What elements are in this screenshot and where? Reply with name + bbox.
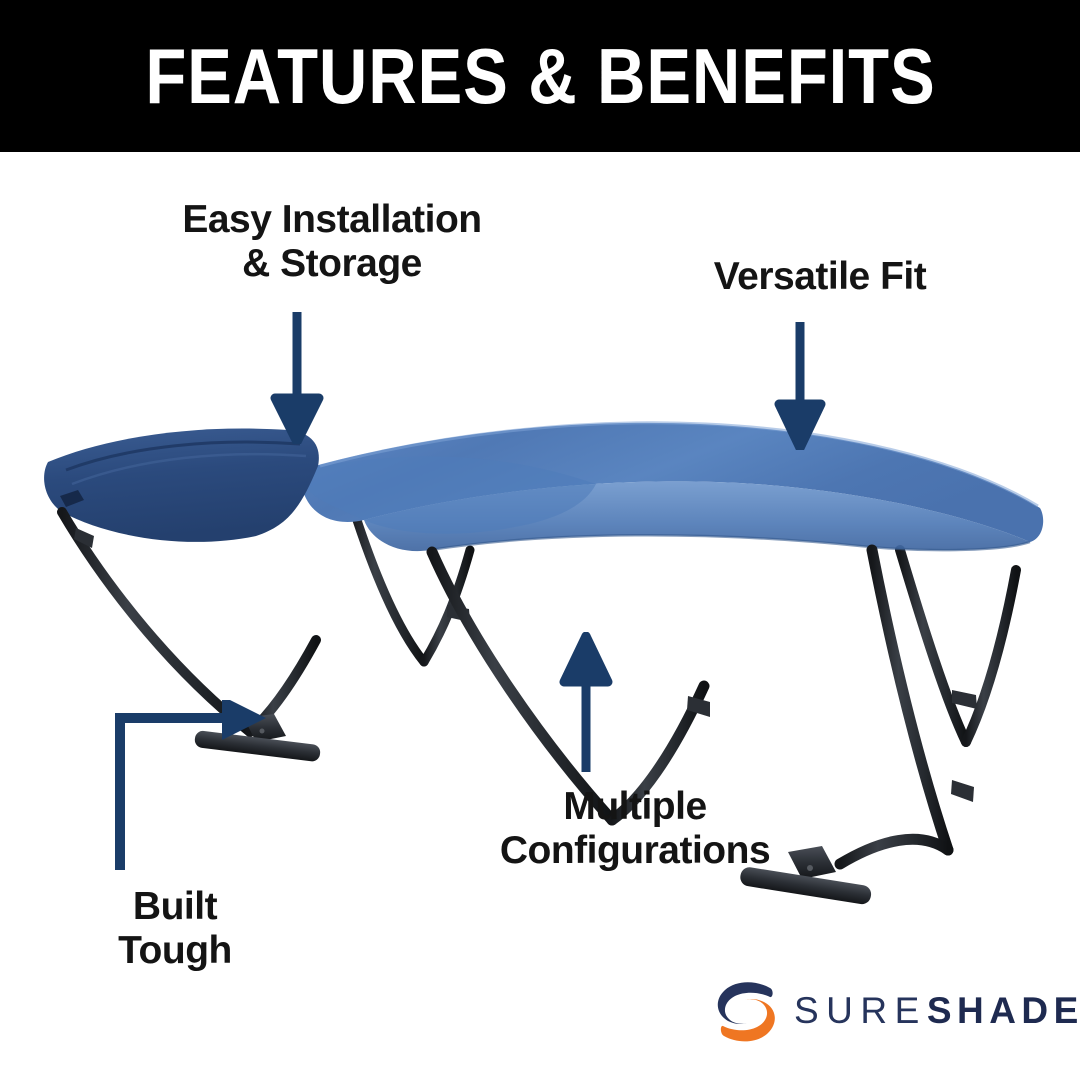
header-banner: FEATURES & BENEFITS	[0, 0, 1080, 152]
page-title: FEATURES & BENEFITS	[145, 37, 935, 115]
logo-text-sure: SURE	[794, 990, 927, 1032]
callout-label-built-tough: Built Tough	[60, 885, 290, 972]
canopy-fabric	[44, 423, 1043, 551]
elbow-right-arrow-icon-built-tough	[110, 700, 270, 872]
callout-label-multiple-configurations: Multiple Configurations	[470, 785, 800, 872]
sureshade-swoosh-icon	[712, 978, 782, 1044]
poster-canvas: FEATURES & BENEFITS	[0, 0, 1080, 1080]
logo-text-shade: SHADE	[927, 990, 1080, 1032]
logo-wordmark: SURE SHADE ®	[794, 990, 1080, 1032]
down-arrow-icon-easy-installation	[262, 312, 332, 444]
down-arrow-icon-versatile-fit	[770, 322, 830, 450]
sureshade-logo: SURE SHADE ®	[712, 975, 1042, 1047]
callout-label-versatile-fit: Versatile Fit	[660, 255, 980, 299]
callout-label-easy-installation: Easy Installation & Storage	[122, 198, 542, 285]
up-arrow-icon-multiple-configurations	[556, 632, 616, 772]
